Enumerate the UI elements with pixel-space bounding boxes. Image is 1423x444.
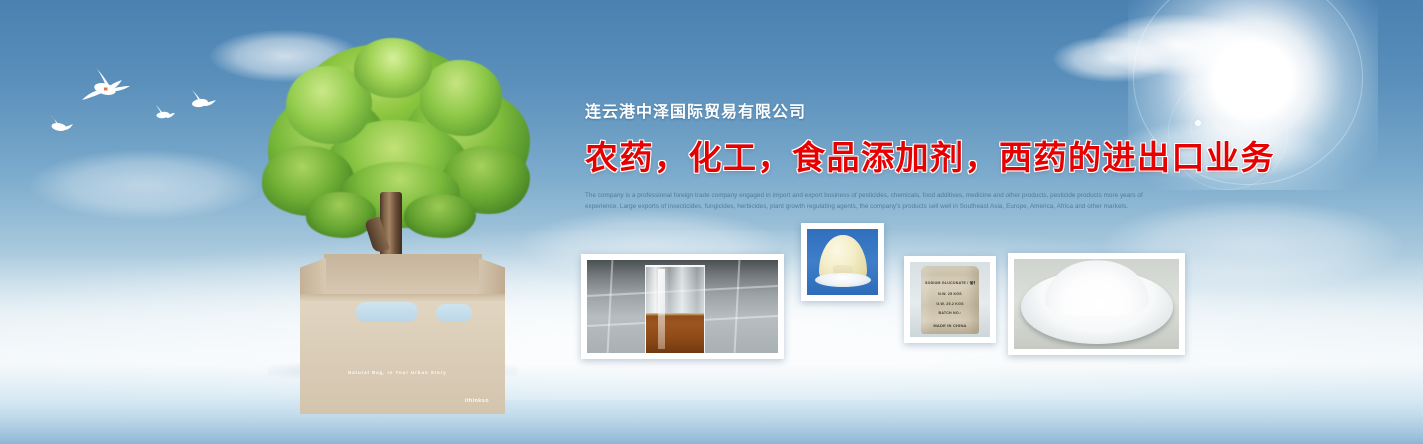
bag-text-line-5: MADE IN CHINA bbox=[925, 323, 975, 328]
dove-icon-3 bbox=[44, 114, 74, 138]
banner-text-block: 连云港中泽国际贸易有限公司 农药，化工，食品添加剂，西药的进出口业务 The c… bbox=[585, 98, 1185, 213]
white-powder-mound bbox=[1045, 260, 1149, 316]
woven-bag-image: SODIUM GLUCONATE / 葡萄糖酸钠 N.W. 25 KGS G.W… bbox=[910, 262, 990, 337]
box-handle-hole-left bbox=[356, 302, 418, 322]
dove-icon-4 bbox=[150, 104, 176, 124]
glass-bottle bbox=[645, 265, 705, 353]
bag-text-line-2: N.W. 25 KGS bbox=[925, 292, 975, 296]
cloud-top-right bbox=[1093, 14, 1263, 76]
white-powder-image bbox=[1014, 259, 1179, 349]
product-photo-liquid-bottle[interactable] bbox=[581, 254, 784, 359]
banner-description: The company is a professional foreign tr… bbox=[585, 191, 1160, 213]
bag-text-line-3: G.W. 25.2 KGS bbox=[925, 302, 975, 306]
bag-text-line-4: BATCH NO.: bbox=[925, 311, 975, 315]
product-sack: SODIUM GLUCONATE / 葡萄糖酸钠 N.W. 25 KGS G.W… bbox=[921, 266, 979, 334]
lens-flare-dot bbox=[1195, 120, 1201, 126]
cloud-upper-right-2 bbox=[1053, 36, 1173, 82]
product-photo-white-powder[interactable] bbox=[1008, 253, 1185, 355]
promo-banner: Natural Bag, In Your Urban Story ithinks… bbox=[0, 0, 1423, 444]
banner-headline: 农药，化工，食品添加剂，西药的进出口业务 bbox=[585, 131, 1185, 179]
box-back-panel bbox=[324, 254, 482, 298]
product-photo-woven-bag[interactable]: SODIUM GLUCONATE / 葡萄糖酸钠 N.W. 25 KGS G.W… bbox=[904, 256, 996, 343]
box-brand-logo: ithinkso bbox=[465, 398, 489, 404]
bag-text-line-1: SODIUM GLUCONATE / 葡萄糖酸钠 bbox=[925, 281, 975, 286]
cardboard-box: Natural Bag, In Your Urban Story ithinks… bbox=[300, 254, 505, 414]
company-name: 连云港中泽国际贸易有限公司 bbox=[585, 98, 1185, 122]
box-front-panel: Natural Bag, In Your Urban Story ithinks… bbox=[300, 294, 505, 414]
box-tagline: Natural Bag, In Your Urban Story bbox=[348, 370, 447, 375]
dove-icon-2 bbox=[183, 88, 217, 116]
tree-in-box-illustration: Natural Bag, In Your Urban Story ithinks… bbox=[262, 42, 532, 372]
yellow-powder-image bbox=[807, 229, 878, 295]
dove-icon-1 bbox=[78, 66, 134, 110]
box-handle-hole-right bbox=[436, 304, 472, 322]
yellow-powder-dish bbox=[815, 273, 871, 287]
cloud-left-low bbox=[30, 150, 260, 220]
liquid-bottle-image bbox=[587, 260, 778, 353]
product-photo-yellow-powder[interactable] bbox=[801, 223, 884, 301]
